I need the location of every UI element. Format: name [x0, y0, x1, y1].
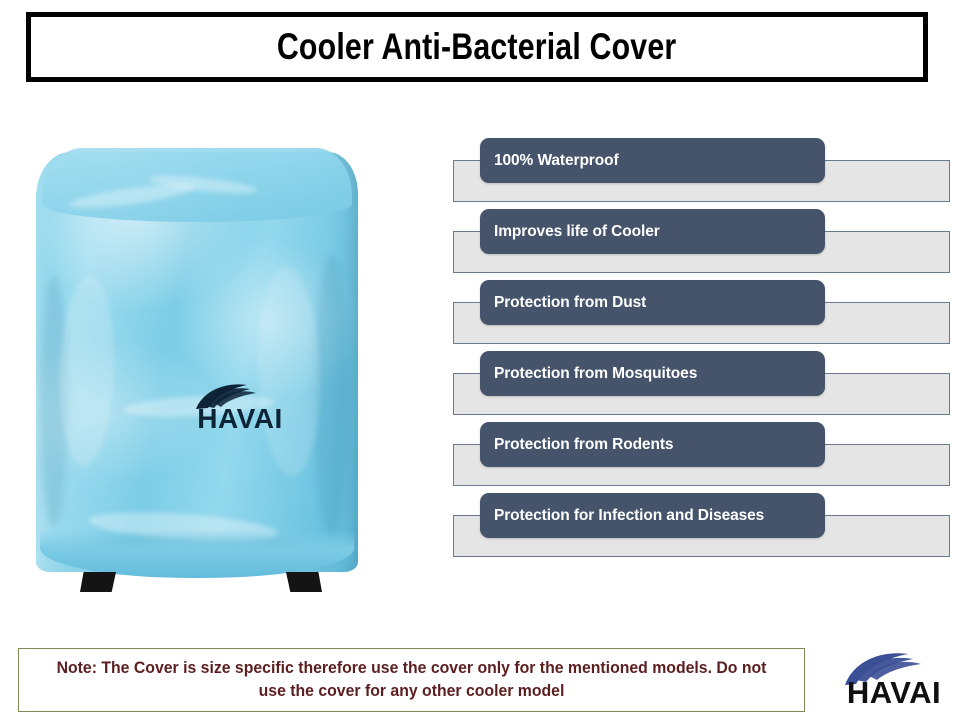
feature-row: Protection from Rodents	[0, 422, 960, 493]
feature-chip[interactable]: Protection from Rodents	[480, 422, 825, 467]
feature-list: 100% Waterproof Improves life of Cooler …	[0, 138, 960, 564]
feature-label: 100% Waterproof	[480, 152, 619, 170]
feature-label: Protection from Rodents	[480, 436, 673, 454]
havai-brand-logo: HAVAI	[838, 645, 950, 707]
note-box: Note: The Cover is size specific therefo…	[18, 648, 805, 712]
feature-chip[interactable]: Protection for Infection and Diseases	[480, 493, 825, 538]
feature-row: Protection from Dust	[0, 280, 960, 351]
page-title-box: Cooler Anti-Bacterial Cover	[26, 12, 928, 82]
feature-row: Protection from Mosquitoes	[0, 351, 960, 422]
feature-chip[interactable]: Improves life of Cooler	[480, 209, 825, 254]
feature-row: Improves life of Cooler	[0, 209, 960, 280]
feature-chip[interactable]: Protection from Mosquitoes	[480, 351, 825, 396]
feature-label: Protection from Mosquitoes	[480, 365, 697, 383]
feature-chip[interactable]: Protection from Dust	[480, 280, 825, 325]
note-text: Note: The Cover is size specific therefo…	[56, 657, 767, 703]
feature-label: Improves life of Cooler	[480, 223, 660, 241]
feature-row: Protection for Infection and Diseases	[0, 493, 960, 564]
feature-row: 100% Waterproof	[0, 138, 960, 209]
cooler-foot-right	[286, 572, 322, 592]
cooler-foot-left	[80, 572, 116, 592]
feature-label: Protection for Infection and Diseases	[480, 507, 764, 525]
svg-text:HAVAI: HAVAI	[847, 675, 941, 707]
page-title: Cooler Anti-Bacterial Cover	[277, 26, 677, 68]
feature-label: Protection from Dust	[480, 294, 646, 312]
feature-chip[interactable]: 100% Waterproof	[480, 138, 825, 183]
